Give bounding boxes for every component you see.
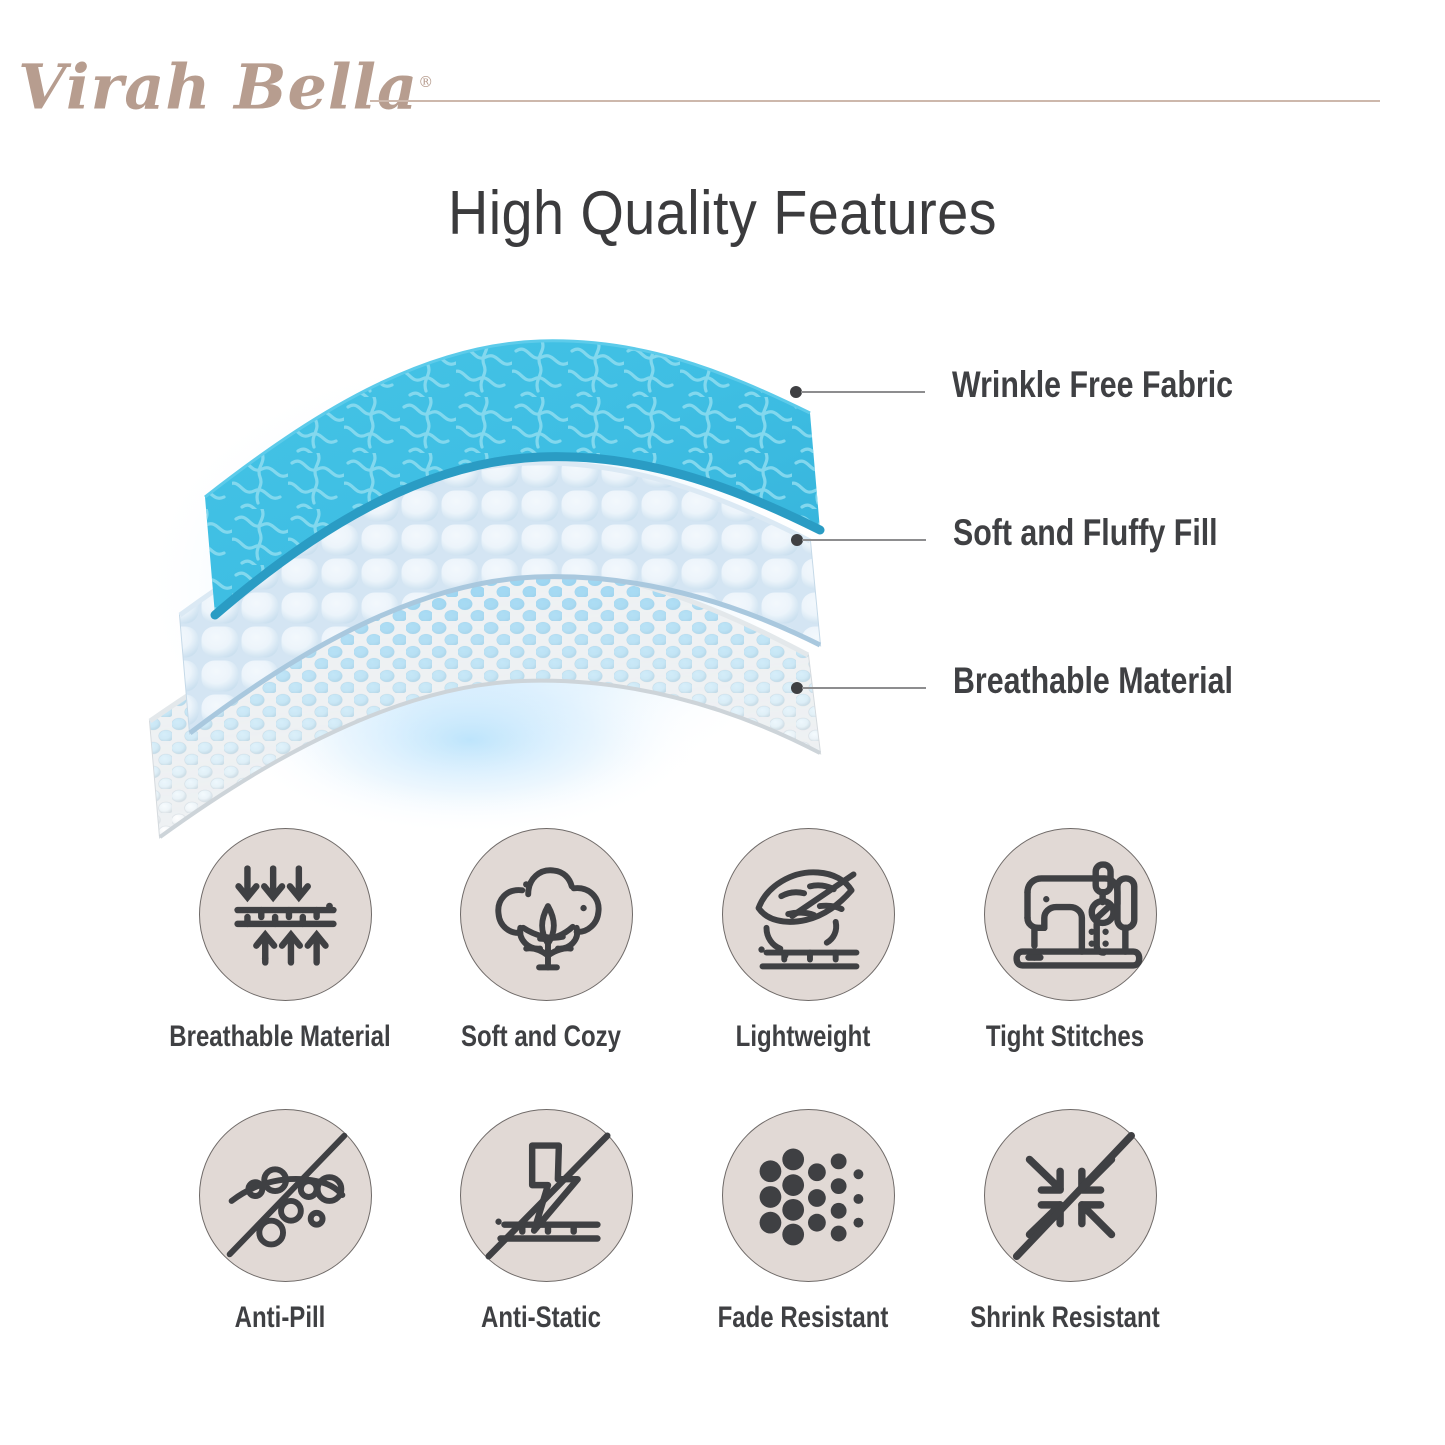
anti-pill-icon	[199, 1109, 372, 1282]
feature-anti-static: Anti-Static	[436, 1109, 636, 1394]
callout-label: Wrinkle Free Fabric	[952, 364, 1233, 406]
feature-row: Breathable Material	[175, 828, 1275, 1113]
feature-label: Tight Stitches	[949, 1020, 1181, 1054]
feature-label: Soft and Cozy	[425, 1020, 657, 1054]
sewing-machine-icon	[984, 828, 1157, 1001]
feature-label: Fade Resistant	[687, 1301, 919, 1335]
feature-anti-pill: Anti-Pill	[175, 1109, 375, 1394]
feature-label: Breathable Material	[164, 1020, 396, 1054]
callout-leader-line	[802, 539, 926, 541]
breathable-arrows-icon	[199, 828, 372, 1001]
header-divider	[370, 100, 1380, 102]
brand-header: Virah Bella®	[0, 0, 1445, 150]
callout-label: Breathable Material	[953, 660, 1233, 702]
registered-trademark-icon: ®	[418, 73, 433, 91]
feature-label: Lightweight	[687, 1020, 919, 1054]
anti-static-bolt-icon	[460, 1109, 633, 1282]
infographic-page: Virah Bella® High Quality Features	[0, 0, 1445, 1445]
feature-row: Anti-Pill Anti-Static	[175, 1109, 1275, 1394]
fade-dots-icon	[722, 1109, 895, 1282]
shrink-arrows-icon	[984, 1109, 1157, 1282]
cotton-boll-icon	[460, 828, 633, 1001]
feature-tight-stitches: Tight Stitches	[960, 828, 1160, 1113]
feather-icon	[722, 828, 895, 1001]
callout-leader-line	[802, 687, 926, 689]
feature-breathable-material: Breathable Material	[175, 828, 375, 1113]
feature-fade-resistant: Fade Resistant	[698, 1109, 898, 1394]
feature-label: Anti-Static	[425, 1301, 657, 1335]
feature-lightweight: Lightweight	[698, 828, 898, 1113]
brand-name: Virah Bella	[18, 51, 418, 124]
feature-shrink-resistant: Shrink Resistant	[960, 1109, 1160, 1394]
feature-icon-grid: Breathable Material	[175, 828, 1275, 1398]
fabric-layers-illustration	[120, 285, 910, 815]
callout-leader-line	[801, 391, 925, 393]
feature-label: Anti-Pill	[164, 1301, 396, 1335]
feature-soft-and-cozy: Soft and Cozy	[436, 828, 636, 1113]
brand-logo: Virah Bella®	[18, 36, 398, 128]
feature-label: Shrink Resistant	[949, 1301, 1181, 1335]
callout-label: Soft and Fluffy Fill	[953, 512, 1218, 554]
page-title: High Quality Features	[72, 178, 1373, 249]
